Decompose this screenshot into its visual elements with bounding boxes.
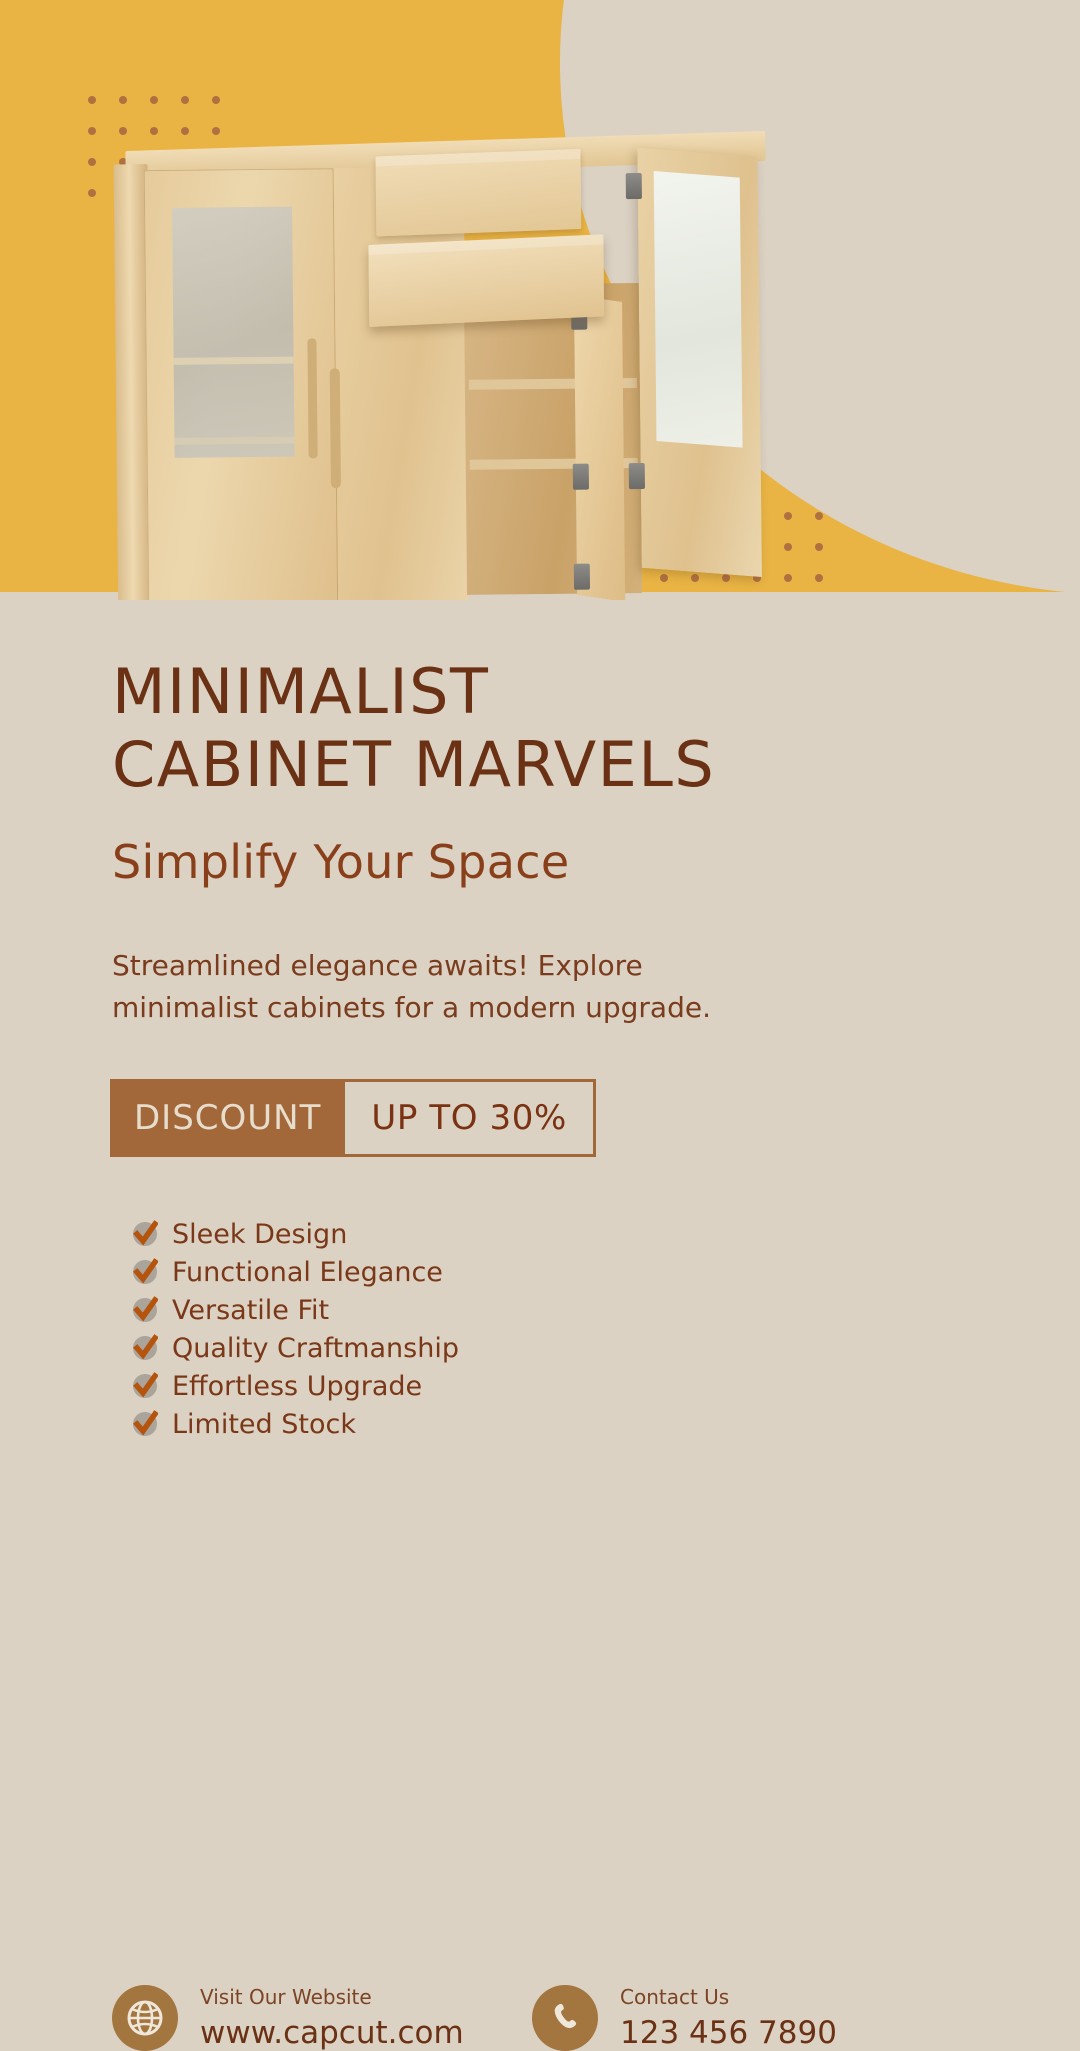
list-item: Versatile Fit: [132, 1295, 1080, 1325]
decorative-dot: [150, 127, 158, 135]
phone-number[interactable]: 123 456 7890: [620, 2015, 837, 2051]
discount-label: DISCOUNT: [110, 1079, 345, 1157]
decorative-dot: [119, 127, 127, 135]
headline-line-1: MINIMALIST: [112, 655, 489, 728]
list-item-label: Effortless Upgrade: [172, 1373, 422, 1400]
discount-value: UP TO 30%: [345, 1079, 596, 1157]
cabinet-open-door: [574, 295, 625, 600]
list-item-label: Quality Craftmanship: [172, 1335, 459, 1362]
page-title: MINIMALIST CABINET MARVELS: [112, 655, 1080, 801]
list-item: Sleek Design: [132, 1219, 1080, 1249]
decorative-dot: [212, 127, 220, 135]
list-item: Limited Stock: [132, 1409, 1080, 1439]
cabinet-handle: [307, 338, 317, 458]
decorative-dot: [88, 189, 96, 197]
decorative-dot: [181, 127, 189, 135]
check-circle-icon: [132, 1221, 158, 1247]
cabinet-mirror-door: [637, 148, 762, 577]
website-url[interactable]: www.capcut.com: [200, 2015, 464, 2051]
list-item: Quality Craftmanship: [132, 1333, 1080, 1363]
contact-website[interactable]: Visit Our Website www.capcut.com: [112, 1985, 532, 2051]
cabinet-glass-pane: [172, 207, 295, 458]
decorative-dot: [784, 512, 792, 520]
list-item: Functional Elegance: [132, 1257, 1080, 1287]
decorative-dot: [212, 96, 220, 104]
decorative-dot: [784, 574, 792, 582]
cabinet-drawer-lower: [368, 234, 604, 327]
website-caption: Visit Our Website: [200, 1985, 464, 2009]
decorative-dot: [119, 96, 127, 104]
decorative-dot: [784, 543, 792, 551]
cabinet-shelf: [174, 437, 294, 445]
poster-content: MINIMALIST CABINET MARVELS Simplify Your…: [0, 600, 1080, 1447]
list-item: Effortless Upgrade: [132, 1371, 1080, 1401]
list-item-label: Sleek Design: [172, 1221, 347, 1248]
globe-icon: [112, 1985, 178, 2051]
check-circle-icon: [132, 1411, 158, 1437]
cabinet-handle: [330, 368, 341, 488]
decorative-dot: [815, 574, 823, 582]
subheadline: Simplify Your Space: [112, 835, 1080, 889]
decorative-dot: [88, 96, 96, 104]
check-circle-icon: [132, 1297, 158, 1323]
decorative-dot: [88, 158, 96, 166]
hero-section: [0, 0, 1080, 600]
cabinet-hinge: [629, 463, 645, 489]
list-item-label: Limited Stock: [172, 1411, 356, 1438]
cabinet-hinge: [574, 564, 590, 590]
list-item-label: Functional Elegance: [172, 1259, 443, 1286]
cabinet-shelf: [174, 357, 294, 365]
cabinet-hinge: [573, 464, 589, 490]
decorative-dot: [150, 96, 158, 104]
contact-phone[interactable]: Contact Us 123 456 7890: [532, 1985, 837, 2051]
check-circle-icon: [132, 1259, 158, 1285]
body-description: Streamlined elegance awaits! Explore min…: [112, 945, 752, 1029]
decorative-dot: [88, 127, 96, 135]
cabinet-product-image: [117, 132, 782, 600]
decorative-dot: [815, 543, 823, 551]
cabinet-mirror-pane: [654, 171, 743, 448]
feature-list: Sleek DesignFunctional EleganceVersatile…: [132, 1219, 1080, 1439]
phone-icon: [532, 1985, 598, 2051]
list-item-label: Versatile Fit: [172, 1297, 329, 1324]
check-circle-icon: [132, 1373, 158, 1399]
decorative-dot: [181, 96, 189, 104]
headline-line-2: CABINET MARVELS: [112, 728, 715, 801]
decorative-dot: [815, 512, 823, 520]
cabinet-hinge: [626, 173, 642, 199]
check-circle-icon: [132, 1335, 158, 1361]
cabinet-drawer-upper: [375, 149, 581, 237]
cabinet-glass-door: [144, 168, 339, 600]
footer-contacts: Visit Our Website www.capcut.com Contact…: [0, 1985, 1080, 2051]
discount-badge: DISCOUNT UP TO 30%: [110, 1079, 596, 1157]
phone-caption: Contact Us: [620, 1985, 837, 2009]
